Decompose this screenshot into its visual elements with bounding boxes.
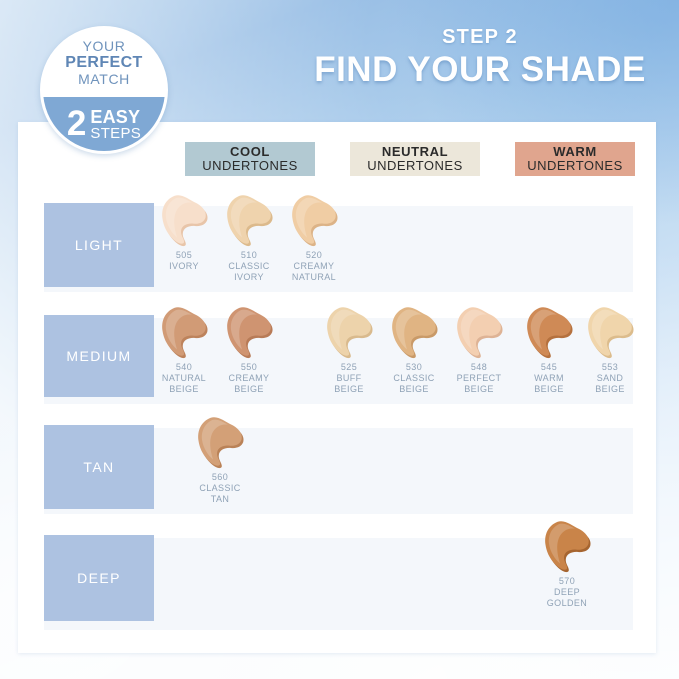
undertone-chip-sub: UNDERTONES [527,159,623,173]
undertone-chip-neutral: NEUTRALUNDERTONES [350,142,480,176]
shade-swatch-545[interactable]: 545 WARM BEIGE [516,302,582,395]
shade-caption: 505 IVORY [151,250,217,272]
undertone-chip-name: COOL [230,145,270,159]
badge-line-perfect: PERFECT [65,54,142,72]
foundation-smear-icon [219,190,279,248]
shade-swatch-520[interactable]: 520 CREAMY NATURAL [281,190,347,283]
row-label-medium: MEDIUM [44,315,154,397]
shade-caption: 560 CLASSIC TAN [187,472,253,505]
shade-caption: 570 DEEP GOLDEN [534,576,600,609]
title-block: STEP 2 FIND YOUR SHADE [300,26,660,90]
undertone-chip-name: WARM [553,145,597,159]
perfect-match-badge: YOUR PERFECT MATCH 2 EASY STEPS [40,26,168,154]
shade-swatch-548[interactable]: 548 PERFECT BEIGE [446,302,512,395]
step-label: STEP 2 [300,26,660,48]
foundation-smear-icon [190,412,250,470]
shade-caption: 540 NATURAL BEIGE [151,362,217,395]
shade-caption: 530 CLASSIC BEIGE [381,362,447,395]
shade-chart-card: COOLUNDERTONESNEUTRALUNDERTONESWARMUNDER… [18,122,656,653]
undertone-chip-sub: UNDERTONES [202,159,298,173]
undertone-chip-warm: WARMUNDERTONES [515,142,635,176]
shade-caption: 553 SAND BEIGE [577,362,643,395]
shade-swatch-550[interactable]: 550 CREAMY BEIGE [216,302,282,395]
shade-swatch-553[interactable]: 553 SAND BEIGE [577,302,643,395]
shade-row-light: LIGHT505 IVORY510 CLASSIC IVORY520 CREAM… [44,206,633,292]
badge-word-steps: STEPS [90,126,141,141]
poster-canvas: YOUR PERFECT MATCH 2 EASY STEPS STEP 2 F… [0,0,679,679]
foundation-smear-icon [384,302,444,360]
shade-swatch-530[interactable]: 530 CLASSIC BEIGE [381,302,447,395]
undertone-chip-name: NEUTRAL [382,145,448,159]
undertone-chip-cool: COOLUNDERTONES [185,142,315,176]
foundation-smear-icon [449,302,509,360]
shade-row-medium: MEDIUM540 NATURAL BEIGE550 CREAMY BEIGE5… [44,318,633,404]
foundation-smear-icon [284,190,344,248]
shade-caption: 525 BUFF BEIGE [316,362,382,395]
row-label-light: LIGHT [44,203,154,287]
badge-step-words: EASY STEPS [90,108,141,141]
badge-line-your: YOUR [83,39,126,55]
foundation-smear-icon [319,302,379,360]
shade-caption: 550 CREAMY BEIGE [216,362,282,395]
shade-caption: 510 CLASSIC IVORY [216,250,282,283]
foundation-smear-icon [154,190,214,248]
shade-caption: 520 CREAMY NATURAL [281,250,347,283]
shade-swatch-505[interactable]: 505 IVORY [151,190,217,272]
badge-top-half: YOUR PERFECT MATCH [43,29,165,97]
foundation-smear-icon [219,302,279,360]
badge-word-easy: EASY [90,108,141,126]
badge-bottom-half: 2 EASY STEPS [43,97,165,151]
page-title: FIND YOUR SHADE [300,50,660,90]
foundation-smear-icon [519,302,579,360]
shade-swatch-570[interactable]: 570 DEEP GOLDEN [534,516,600,609]
shade-caption: 545 WARM BEIGE [516,362,582,395]
shade-row-deep: DEEP570 DEEP GOLDEN [44,538,633,630]
shade-swatch-540[interactable]: 540 NATURAL BEIGE [151,302,217,395]
shade-caption: 548 PERFECT BEIGE [446,362,512,395]
shade-swatch-560[interactable]: 560 CLASSIC TAN [187,412,253,505]
row-label-deep: DEEP [44,535,154,621]
foundation-smear-icon [580,302,640,360]
badge-line-match: MATCH [78,72,130,88]
shade-row-tan: TAN560 CLASSIC TAN [44,428,633,514]
undertone-chip-sub: UNDERTONES [367,159,463,173]
foundation-smear-icon [537,516,597,574]
shade-swatch-525[interactable]: 525 BUFF BEIGE [316,302,382,395]
row-label-tan: TAN [44,425,154,509]
badge-step-count: 2 [67,108,86,140]
foundation-smear-icon [154,302,214,360]
shade-swatch-510[interactable]: 510 CLASSIC IVORY [216,190,282,283]
